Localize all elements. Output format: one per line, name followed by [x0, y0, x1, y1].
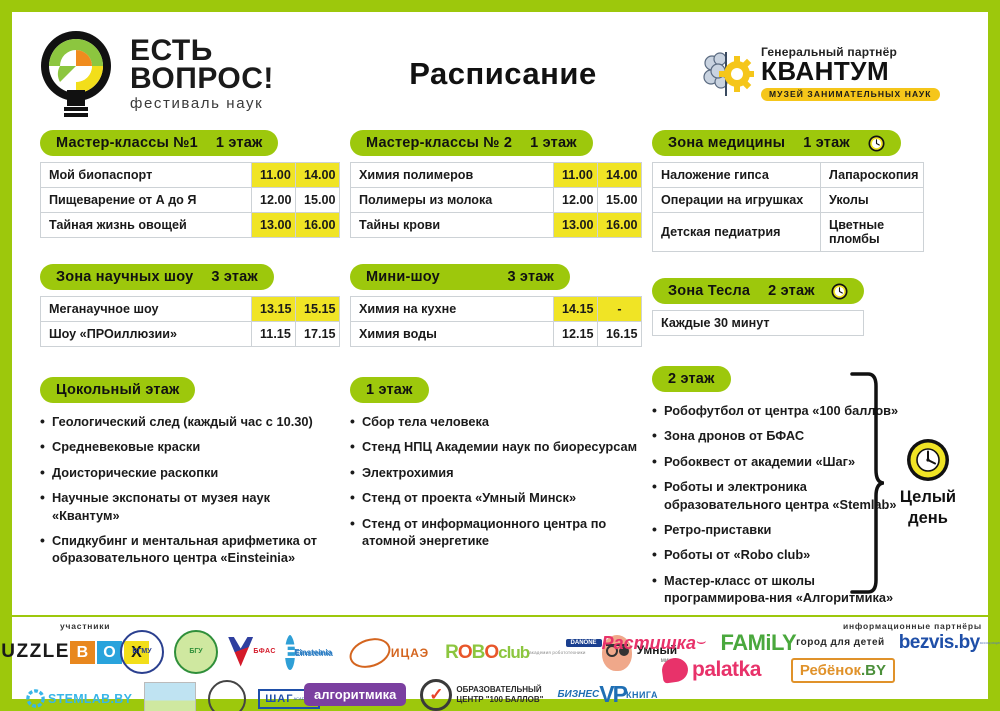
footer-info-partners: информационные партнёры DANONE Растишка …	[640, 621, 1000, 711]
table-row: Тайны крови 13.00 16.00	[351, 213, 642, 238]
logo-puzzle-box[interactable]: PUZZLE B O X	[26, 639, 110, 664]
list-item: Геологический след (каждый час с 10.30)	[40, 413, 340, 430]
section-title: Мини-шоу	[366, 269, 440, 285]
cell-activity: Операции на игрушках	[653, 188, 821, 213]
cell-activity: Тайная жизнь овощей	[41, 213, 252, 238]
poster-footer: участники PUZZLE B O X БГМУ БГУ	[12, 615, 988, 711]
cell-activity: Тайны крови	[351, 213, 554, 238]
cell-activity-2: Уколы	[821, 188, 924, 213]
section-header-floor-1: 1 этаж	[350, 377, 429, 403]
table-row: Мой биопаспорт 11.00 14.00	[41, 163, 340, 188]
section-header-tesla-zone: Зона Тесла 2 этаж	[652, 278, 864, 304]
logo-bezvis[interactable]: bezvis.by ассоциация туристических агент…	[899, 633, 1000, 652]
logo-text: Растишка	[602, 634, 696, 652]
section-floor: 3 этаж	[211, 269, 258, 285]
logo-mark	[285, 636, 295, 670]
list-item: Средневековые краски	[40, 438, 340, 455]
cell-activity: Каждые 30 минут	[653, 311, 864, 336]
table-row: Меганаучное шоу 13.15 15.15	[41, 297, 340, 322]
curly-brace-icon	[850, 372, 884, 594]
logo-mark	[420, 679, 452, 711]
logo-peyzazh[interactable]	[144, 682, 196, 711]
cell-activity: Химия полимеров	[351, 163, 554, 188]
logo-text: БИЗНЕС	[557, 689, 599, 700]
cell-activity: Химия воды	[351, 322, 554, 347]
column-1: Мастер-классы №1 1 этаж Мой биопаспорт 1…	[40, 130, 340, 615]
list-item: Стенд от информационного центра по атомн…	[350, 515, 642, 550]
section-header-master-classes-1: Мастер-классы №1 1 этаж	[40, 130, 278, 156]
section-header-mini-show: Мини-шоу 3 этаж	[350, 264, 570, 290]
logo-text: ROBO	[445, 643, 498, 662]
logo-swoosh: ⌣	[696, 639, 707, 645]
cell-activity-2: Лапароскопия	[821, 163, 924, 188]
section-header-master-classes-2: Мастер-классы № 2 1 этаж	[350, 130, 593, 156]
logo-bgmu[interactable]: БГМУ	[120, 630, 164, 674]
table-row: Детская педиатрия Цветные пломбы	[653, 213, 924, 252]
cell-time-1: 13.15	[252, 297, 296, 322]
logo-mark	[660, 656, 689, 683]
table-row: Шоу «ПРОиллюзии» 11.15 17.15	[41, 322, 340, 347]
section-title: Зона медицины	[668, 135, 785, 151]
logo-text: PUZZLE	[0, 642, 70, 661]
logo-robo-club[interactable]: ROBO club академия робототехники	[445, 643, 585, 662]
cell-time-2: 15.15	[296, 297, 340, 322]
lightbulb-icon	[36, 28, 122, 120]
logo-text-2: club	[498, 644, 529, 661]
partner-name: КВАНТУМ	[761, 58, 940, 85]
cell-time-2: 15.00	[598, 188, 642, 213]
logo-tagline: фестиваль наук	[130, 97, 274, 111]
brain-gear-icon	[700, 49, 754, 99]
logo-text: STEMLAB.BY	[48, 692, 132, 706]
logo-text-2: ЦЕНТР "100 БАЛЛОВ"	[456, 695, 543, 704]
logo-mark	[228, 637, 253, 667]
list-item: Стенд НПЦ Академии наук по биоресурсам	[350, 438, 642, 455]
logo-text: Einsteinia	[295, 649, 333, 658]
table-mini-show: Химия на кухне 14.15 - Химия воды 12.15 …	[350, 296, 642, 347]
logo-fiztech[interactable]	[208, 680, 246, 711]
poster-header: ЕСТЬ ВОПРОС! фестиваль наук Расписание	[12, 12, 988, 130]
section-title: Мастер-классы № 2	[366, 135, 512, 151]
list-item: Сбор тела человека	[350, 413, 642, 430]
logo-algoritmika[interactable]: алгоритмика	[304, 683, 406, 706]
logo-letter: B	[70, 641, 95, 664]
table-row: Химия полимеров 11.00 14.00	[351, 163, 642, 188]
cell-activity: Химия на кухне	[351, 297, 554, 322]
cell-time-1: 11.00	[554, 163, 598, 188]
logo-text: БГМУ	[132, 648, 151, 655]
cell-time-1: 11.00	[252, 163, 296, 188]
cell-time-1: 12.00	[554, 188, 598, 213]
cell-time-2: 14.00	[598, 163, 642, 188]
logo-bgu[interactable]: БГУ	[174, 630, 218, 674]
logo-text-2: VP	[599, 684, 626, 705]
page-title: Расписание	[306, 56, 700, 92]
all-day-block: Целый день	[850, 372, 970, 594]
cell-time-1: 14.15	[554, 297, 598, 322]
logo-icae[interactable]: ИЦАЭ	[349, 639, 429, 667]
list-item: Научные экспонаты от музея наук «Квантум…	[40, 489, 340, 524]
logo-100-ballov[interactable]: ОБРАЗОВАТЕЛЬНЫЙ ЦЕНТР "100 БАЛЛОВ"	[420, 679, 543, 711]
table-row: Каждые 30 минут	[653, 311, 864, 336]
cell-time-2: 16.15	[598, 322, 642, 347]
logo-einsteinia-2[interactable]: Einsteinia	[285, 636, 333, 670]
logo-text: FAMiLY	[720, 632, 796, 654]
logo-palatka[interactable]: palatka	[662, 658, 761, 682]
cell-time-1: 11.15	[252, 322, 296, 347]
list-item: Спидкубинг и ментальная арифметика от об…	[40, 532, 340, 567]
poster-body: Мастер-классы №1 1 этаж Мой биопаспорт 1…	[12, 130, 988, 615]
cell-activity: Детская педиатрия	[653, 213, 821, 252]
table-science-show-zone: Меганаучное шоу 13.15 15.15 Шоу «ПРОиллю…	[40, 296, 340, 347]
cell-activity-2: Цветные пломбы	[821, 213, 924, 252]
section-floor: 3 этаж	[507, 269, 554, 285]
all-day-line-1: Целый	[900, 488, 956, 506]
table-master-classes-2: Химия полимеров 11.00 14.00 Полимеры из …	[350, 162, 642, 238]
table-row: Операции на игрушках Уколы	[653, 188, 924, 213]
section-floor: 1 этаж	[803, 135, 850, 151]
section-header-medicine-zone: Зона медицины 1 этаж	[652, 130, 901, 156]
section-title: 1 этаж	[366, 382, 413, 398]
section-floor: 1 этаж	[216, 135, 263, 151]
table-row: Химия воды 12.15 16.15	[351, 322, 642, 347]
table-master-classes-1: Мой биопаспорт 11.00 14.00 Пищеварение о…	[40, 162, 340, 238]
list-item: Электрохимия	[350, 464, 642, 481]
logo-family[interactable]: FAMiLY город для детей	[720, 632, 884, 654]
cell-time-1: 13.00	[554, 213, 598, 238]
logo-line-1: ЕСТЬ	[130, 37, 274, 65]
section-title: Цокольный этаж	[56, 382, 179, 398]
section-header-floor-2: 2 этаж	[652, 366, 731, 392]
all-day-line-2: день	[908, 509, 948, 527]
logo-text: алгоритмика	[314, 687, 396, 702]
column-2: Мастер-классы № 2 1 этаж Химия полимеров…	[350, 130, 642, 615]
general-partner-logo: Генеральный партнёр КВАНТУМ МУЗЕЙ ЗАНИМА…	[700, 46, 970, 102]
cell-time-2: -	[598, 297, 642, 322]
logo-rastishka[interactable]: DANONE Растишка ⌣	[566, 633, 707, 652]
table-medicine-zone: Наложение гипса Лапароскопия Операции на…	[652, 162, 924, 252]
clock-icon	[831, 283, 848, 300]
logo-text: Ребёнок	[800, 662, 861, 679]
cell-time-1: 12.00	[252, 188, 296, 213]
list-basement: Геологический след (каждый час с 10.30) …	[40, 413, 340, 575]
table-row: Наложение гипса Лапароскопия	[653, 163, 924, 188]
poster-root: ЕСТЬ ВОПРОС! фестиваль наук Расписание	[0, 0, 1000, 711]
logo-bfas[interactable]: БФАС	[228, 637, 276, 667]
festival-logo: ЕСТЬ ВОПРОС! фестиваль наук	[36, 28, 326, 120]
cell-time-2: 16.00	[296, 213, 340, 238]
table-tesla-zone: Каждые 30 минут	[652, 310, 864, 336]
logo-text: БФАС	[253, 648, 276, 655]
logo-text: bezvis.by	[899, 633, 980, 652]
cell-time-2: 15.00	[296, 188, 340, 213]
cell-time-2: 14.00	[296, 163, 340, 188]
clock-icon	[868, 135, 885, 152]
logo-rebenok-by[interactable]: Ребёнок.BY	[791, 658, 895, 683]
section-title: Мастер-классы №1	[56, 135, 198, 151]
cell-time-1: 13.00	[252, 213, 296, 238]
list-item: Стенд от проекта «Умный Минск»	[350, 489, 642, 506]
cell-activity: Меганаучное шоу	[41, 297, 252, 322]
cell-activity: Пищеварение от А до Я	[41, 188, 252, 213]
partner-tagline: МУЗЕЙ ЗАНИМАТЕЛЬНЫХ НАУК	[761, 88, 940, 101]
poster-sheet: ЕСТЬ ВОПРОС! фестиваль наук Расписание	[12, 12, 988, 699]
logo-text: palatka	[692, 658, 761, 682]
clock-icon	[906, 438, 950, 482]
section-floor: 1 этаж	[530, 135, 577, 151]
table-row: Полимеры из молока 12.00 15.00	[351, 188, 642, 213]
cell-activity: Наложение гипса	[653, 163, 821, 188]
cell-time-2: 17.15	[296, 322, 340, 347]
cell-activity: Шоу «ПРОиллюзии»	[41, 322, 252, 347]
logo-stemlab[interactable]: STEMLAB.BY	[26, 689, 132, 708]
logo-text: ИЦАЭ	[391, 646, 429, 660]
info-partners-caption: информационные партнёры	[640, 621, 1000, 631]
cell-activity: Полимеры из молока	[351, 188, 554, 213]
logo-text: ОБРАЗОВАТЕЛЬНЫЙ	[456, 685, 543, 694]
table-row: Тайная жизнь овощей 13.00 16.00	[41, 213, 340, 238]
list-item: Доисторические раскопки	[40, 464, 340, 481]
section-title: Зона научных шоу	[56, 269, 193, 285]
logo-text: БГУ	[189, 648, 202, 655]
logo-text-2: .BY	[861, 662, 886, 679]
logo-sub: DANONE	[566, 639, 602, 647]
logo-mark	[346, 633, 395, 673]
gear-icon	[26, 689, 45, 708]
logo-text: ШАГ	[265, 693, 293, 705]
cell-time-1: 12.15	[554, 322, 598, 347]
logo-sub: ассоциация туристических агентств	[980, 641, 1000, 645]
table-row: Пищеварение от А до Я 12.00 15.00	[41, 188, 340, 213]
section-header-science-show-zone: Зона научных шоу 3 этаж	[40, 264, 274, 290]
footer-participants: участники PUZZLE B O X БГМУ БГУ	[26, 621, 322, 711]
logo-sub: город для детей	[796, 637, 885, 648]
cell-time-2: 16.00	[598, 213, 642, 238]
section-title: 2 этаж	[668, 371, 715, 387]
section-floor: 2 этаж	[768, 283, 815, 299]
logo-letter: O	[97, 641, 122, 664]
cell-activity: Мой биопаспорт	[41, 163, 252, 188]
logo-line-2: ВОПРОС!	[130, 65, 274, 93]
section-header-basement: Цокольный этаж	[40, 377, 195, 403]
list-floor-1: Сбор тела человека Стенд НПЦ Академии на…	[350, 413, 642, 557]
table-row: Химия на кухне 14.15 -	[351, 297, 642, 322]
section-title: Зона Тесла	[668, 283, 750, 299]
